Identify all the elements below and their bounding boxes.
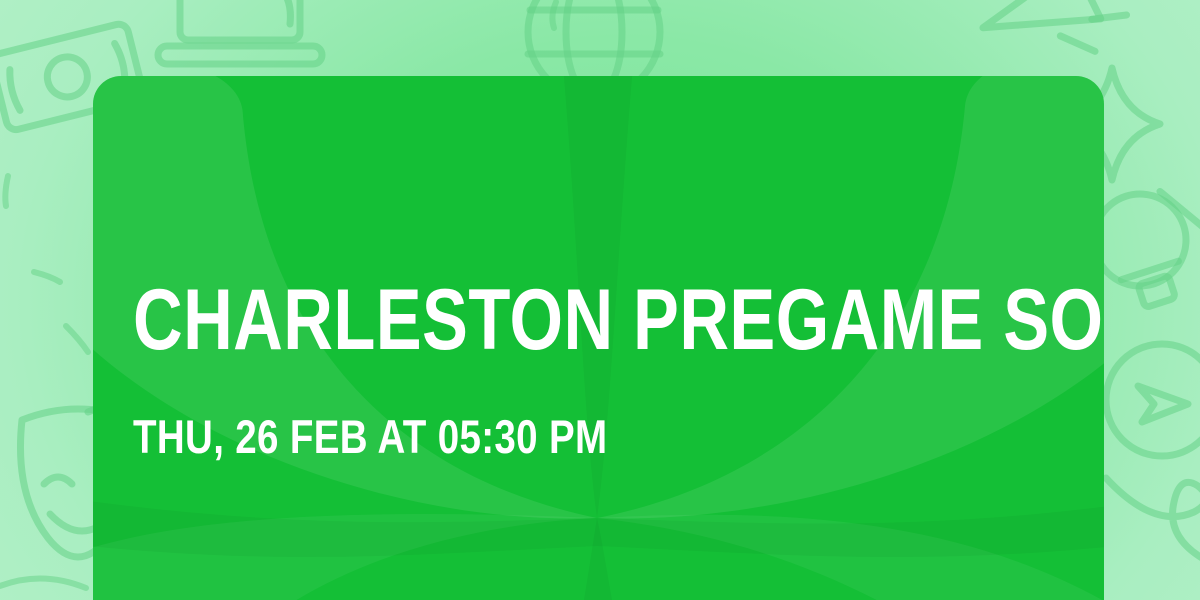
event-datetime: THU, 26 FEB AT 05:30 PM bbox=[133, 409, 607, 465]
confetti-dash-icon bbox=[34, 272, 60, 282]
paper-plane-icon bbox=[1106, 344, 1200, 456]
laptop-icon bbox=[158, 0, 322, 64]
event-banner: CHARLESTON PREGAME SOCIAL THU, 26 FEB AT… bbox=[0, 0, 1200, 600]
streamer-icon bbox=[0, 578, 86, 588]
confetti-dash-icon bbox=[5, 176, 8, 206]
streamer-icon bbox=[1106, 478, 1200, 600]
event-card: CHARLESTON PREGAME SOCIAL THU, 26 FEB AT… bbox=[93, 76, 1104, 600]
confetti-dash-icon bbox=[66, 326, 88, 352]
confetti-dash-icon bbox=[552, 2, 556, 28]
card-text-block: CHARLESTON PREGAME SOCIAL THU, 26 FEB AT… bbox=[133, 76, 1073, 600]
event-title: CHARLESTON PREGAME SOCIAL bbox=[133, 272, 1104, 368]
